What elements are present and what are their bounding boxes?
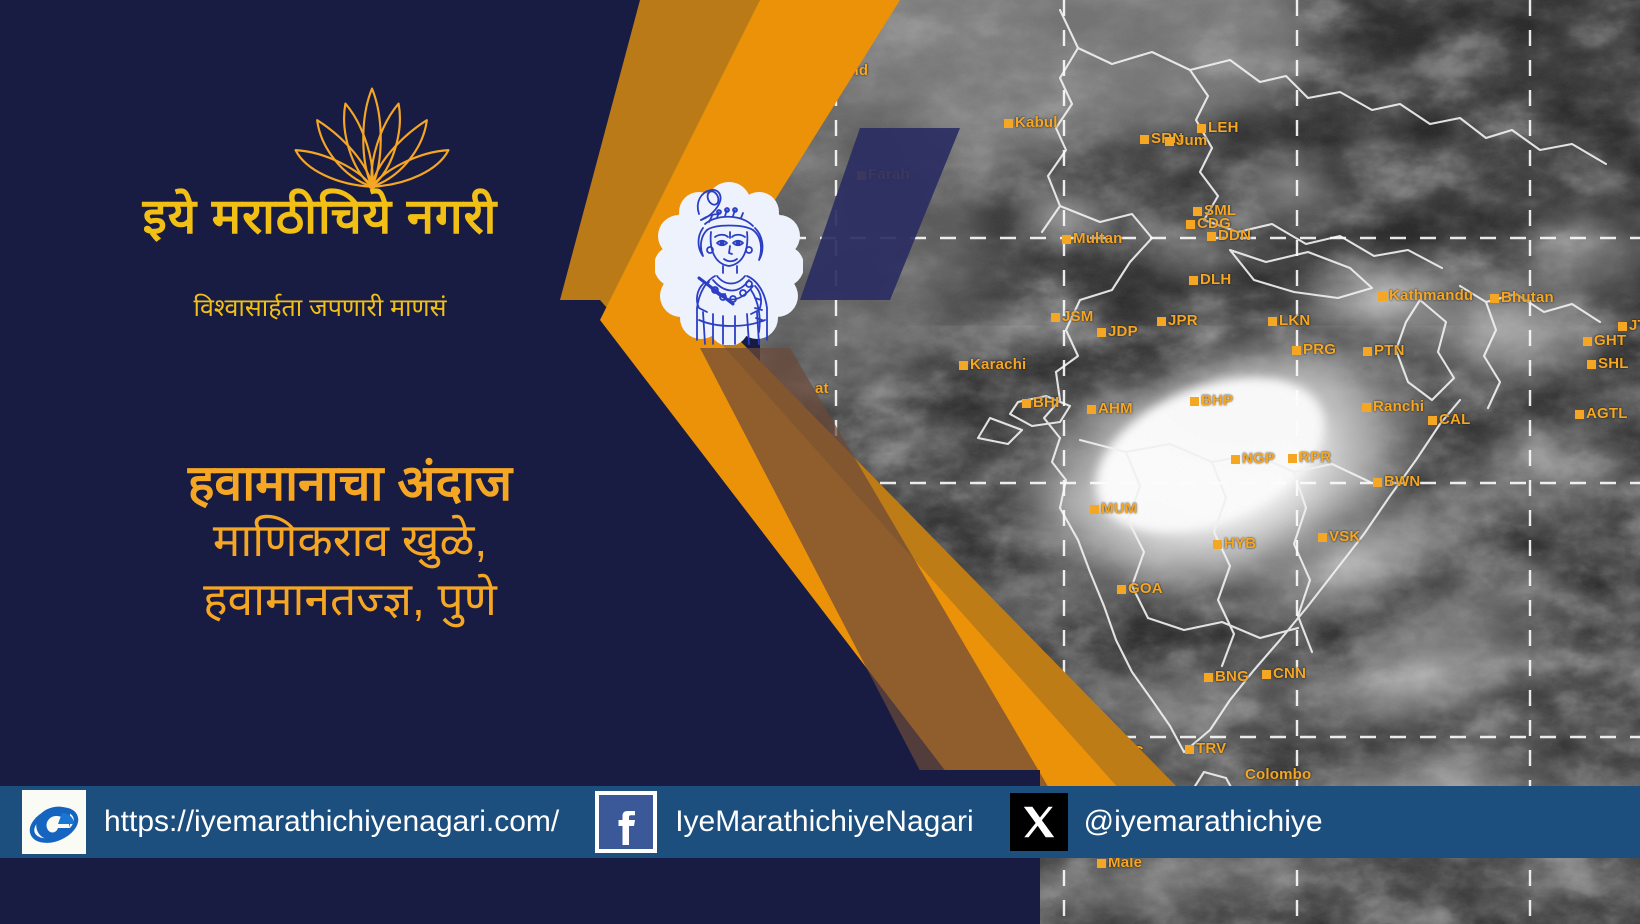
- map-city-name: LKN: [1279, 312, 1310, 329]
- map-city-marker: [1362, 403, 1371, 412]
- map-city-name: GHT: [1594, 332, 1626, 349]
- internet-explorer-icon: [22, 790, 86, 854]
- map-city-marker: [1231, 455, 1240, 464]
- map-city-name: JSM: [1062, 308, 1093, 325]
- map-city-label: BNG: [1204, 668, 1249, 685]
- footer-overbar-navy: [0, 770, 1040, 786]
- map-city-label: JDP: [1097, 323, 1138, 340]
- map-city-label: HYB: [1213, 535, 1256, 552]
- map-city-marker: [1618, 322, 1627, 331]
- website-link[interactable]: https://iyemarathichiyenagari.com/: [22, 786, 559, 858]
- map-city-label: Kabul: [1004, 114, 1058, 131]
- footer-underbar-navy: [0, 858, 1040, 924]
- map-city-label: Bhutan: [1490, 289, 1554, 306]
- map-city-name: PTN: [1374, 342, 1405, 359]
- map-city-marker: [1117, 585, 1126, 594]
- map-city-marker: [1087, 405, 1096, 414]
- krishna-illustration: [655, 180, 803, 345]
- map-city-marker: [857, 171, 866, 180]
- map-city-name: AGTL: [1586, 405, 1628, 422]
- map-city-marker: [1022, 399, 1031, 408]
- lotus-icon: [288, 82, 456, 190]
- map-city-marker: [1186, 220, 1195, 229]
- map-city-label: BHP: [1190, 392, 1233, 409]
- map-city-marker: [1490, 294, 1499, 303]
- map-city-marker: [959, 361, 968, 370]
- map-city-name: Kabul: [1015, 114, 1058, 131]
- map-city-label: Kathmandu: [1378, 287, 1473, 304]
- map-city-marker: [1190, 397, 1199, 406]
- map-city-name: DDN: [1218, 227, 1251, 244]
- map-city-label: MUM: [1090, 500, 1137, 517]
- map-city-name: RPR: [1299, 449, 1331, 466]
- map-city-marker: [1575, 410, 1584, 419]
- map-city-label: AGTL: [1575, 405, 1628, 422]
- map-city-label: GOA: [1117, 580, 1163, 597]
- map-city-label: DLH: [1189, 271, 1231, 288]
- map-city-label: at: [815, 380, 829, 397]
- map-city-label: LEH: [1197, 119, 1239, 136]
- map-city-label: CAL: [1428, 411, 1470, 428]
- brand-tagline: विश्वासार्हता जपणारी माणसं: [0, 290, 640, 324]
- map-city-name: JT: [1629, 317, 1640, 334]
- map-city-name: PRG: [1303, 341, 1336, 358]
- map-city-marker: [1004, 119, 1013, 128]
- map-city-marker: [1097, 859, 1106, 868]
- map-city-marker: [1098, 748, 1107, 757]
- map-city-label: SHL: [1587, 355, 1629, 372]
- map-city-label: AHM: [1087, 400, 1133, 417]
- map-city-marker: [1378, 292, 1387, 301]
- map-city-marker: [1185, 745, 1194, 754]
- map-city-name: JDP: [1108, 323, 1138, 340]
- map-city-label: DDN: [1207, 227, 1251, 244]
- headline-block: हवामानाचा अंदाज माणिकराव खुळे, हवामानतज्…: [0, 455, 700, 629]
- map-city-marker: [1373, 478, 1382, 487]
- facebook-handle: IyeMarathichiyeNagari: [675, 805, 973, 839]
- map-city-name: MUM: [1101, 500, 1137, 517]
- twitter-link[interactable]: @iyemarathichiye: [1010, 786, 1323, 858]
- x-twitter-icon: [1010, 793, 1068, 851]
- map-city-label: LKN: [1268, 312, 1310, 329]
- map-city-name: at: [815, 380, 829, 397]
- map-city-name: CNN: [1273, 665, 1306, 682]
- map-city-label: NGP: [1231, 450, 1275, 467]
- map-city-marker: [1288, 454, 1297, 463]
- weather-forecast-poster: mhdKabulFarahSRNJumLEHSMLCDGDDNMultanDLH…: [0, 0, 1640, 924]
- map-city-label: GHT: [1583, 332, 1626, 349]
- map-city-label: Farah: [857, 166, 910, 183]
- map-city-marker: [1583, 337, 1592, 346]
- headline-line-1: हवामानाचा अंदाज: [0, 455, 700, 511]
- map-city-label: PRG: [1292, 341, 1336, 358]
- map-city-label: CNN: [1262, 665, 1306, 682]
- map-city-name: VSK: [1329, 528, 1360, 545]
- map-city-label: Ranchi: [1362, 398, 1424, 415]
- map-city-name: Colombo: [1245, 766, 1311, 783]
- map-city-name: NGP: [1242, 450, 1275, 467]
- map-city-marker: [1292, 346, 1301, 355]
- map-city-name: mhd: [836, 62, 868, 79]
- map-city-marker: [1097, 328, 1106, 337]
- map-city-name: Karachi: [970, 356, 1026, 373]
- headline-line-2: माणिकराव खुळे,: [0, 511, 700, 570]
- map-city-label: Multan: [1062, 230, 1123, 247]
- map-city-marker: [1207, 232, 1216, 241]
- map-city-label: JPR: [1157, 312, 1198, 329]
- map-city-name: TRV: [1196, 740, 1226, 757]
- map-city-label: BWN: [1373, 473, 1420, 490]
- map-city-name: DLH: [1200, 271, 1231, 288]
- headline-line-3: हवामानतज्ज्ञ, पुणे: [0, 570, 700, 629]
- map-city-name: Bhutan: [1501, 289, 1554, 306]
- map-city-name: MNC: [1109, 743, 1144, 760]
- map-city-label: BHI: [1022, 394, 1059, 411]
- map-city-label: VSK: [1318, 528, 1360, 545]
- map-city-marker: [1157, 317, 1166, 326]
- map-city-name: AHM: [1098, 400, 1133, 417]
- map-city-marker: [1268, 317, 1277, 326]
- map-city-marker: [1062, 235, 1071, 244]
- map-city-name: BWN: [1384, 473, 1420, 490]
- map-city-label: PTN: [1363, 342, 1405, 359]
- map-city-name: BHP: [1201, 392, 1233, 409]
- map-city-name: Farah: [868, 166, 910, 183]
- map-city-label: MNC: [1098, 743, 1144, 760]
- map-city-marker: [1090, 505, 1099, 514]
- map-city-marker: [1587, 360, 1596, 369]
- map-city-marker: [1204, 673, 1213, 682]
- facebook-link[interactable]: IyeMarathichiyeNagari: [595, 786, 973, 858]
- map-city-name: BHI: [1033, 394, 1059, 411]
- brand-title: इये मराठीचिये नगरी: [0, 192, 640, 243]
- map-city-marker: [1428, 416, 1437, 425]
- map-city-name: Ranchi: [1373, 398, 1424, 415]
- map-city-name: LEH: [1208, 119, 1239, 136]
- map-city-name: JPR: [1168, 312, 1198, 329]
- map-city-marker: [1318, 533, 1327, 542]
- map-city-name: HYB: [1224, 535, 1256, 552]
- map-city-name: CAL: [1439, 411, 1470, 428]
- map-city-name: BNG: [1215, 668, 1249, 685]
- map-city-label: JSM: [1051, 308, 1093, 325]
- map-city-marker: [1213, 540, 1222, 549]
- map-city-marker: [1165, 137, 1174, 146]
- website-url: https://iyemarathichiyenagari.com/: [104, 805, 559, 839]
- map-city-marker: [1363, 347, 1372, 356]
- map-city-name: SHL: [1598, 355, 1629, 372]
- map-city-marker: [1197, 124, 1206, 133]
- map-city-label: mhd: [836, 62, 868, 79]
- map-city-name: Kathmandu: [1389, 287, 1473, 304]
- map-city-label: Karachi: [959, 356, 1026, 373]
- twitter-handle: @iyemarathichiye: [1084, 805, 1323, 839]
- map-city-marker: [1051, 313, 1060, 322]
- map-city-name: GOA: [1128, 580, 1163, 597]
- map-city-marker: [1262, 670, 1271, 679]
- map-city-label: RPR: [1288, 449, 1331, 466]
- social-footer-bar: https://iyemarathichiyenagari.com/ IyeMa…: [0, 786, 1640, 858]
- map-city-label: Colombo: [1245, 766, 1311, 783]
- map-city-name: Multan: [1073, 230, 1123, 247]
- map-city-marker: [1189, 276, 1198, 285]
- map-city-label: TRV: [1185, 740, 1226, 757]
- map-city-marker: [1140, 135, 1149, 144]
- facebook-icon: [595, 791, 657, 853]
